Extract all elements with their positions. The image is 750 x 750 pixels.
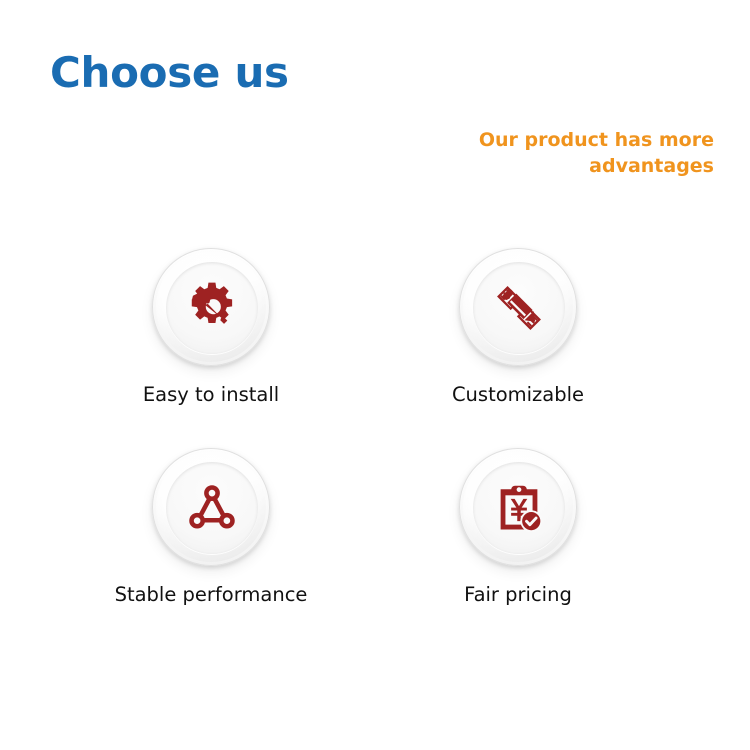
clipboard-yen-check-icon [491,480,547,536]
gear-wrench-icon [184,280,240,336]
feature-badge[interactable] [152,248,270,366]
feature-item-customizable[interactable]: Customizable [398,248,638,406]
feature-item-easy-to-install[interactable]: Easy to install [91,248,331,406]
feature-label: Easy to install [91,383,331,406]
page-title: Choose us [50,52,289,94]
feature-item-stable-performance[interactable]: Stable performance [91,448,331,606]
feature-item-fair-pricing[interactable]: Fair pricing [398,448,638,606]
subtitle-line-1: Our product has more [354,128,714,154]
feature-label: Fair pricing [398,583,638,606]
feature-label: Customizable [398,383,638,406]
feature-grid: Easy to install [0,248,750,668]
feature-badge[interactable] [459,248,577,366]
pencil-ruler-icon [491,280,547,336]
triangle-network-icon [184,480,240,536]
feature-badge[interactable] [459,448,577,566]
badge-inner-disc [166,262,258,354]
badge-inner-disc [166,462,258,554]
badge-inner-disc [473,262,565,354]
badge-inner-disc [473,462,565,554]
feature-badge[interactable] [152,448,270,566]
subtitle-line-2: advantages [354,154,714,180]
subtitle: Our product has more advantages [354,128,714,179]
feature-label: Stable performance [91,583,331,606]
